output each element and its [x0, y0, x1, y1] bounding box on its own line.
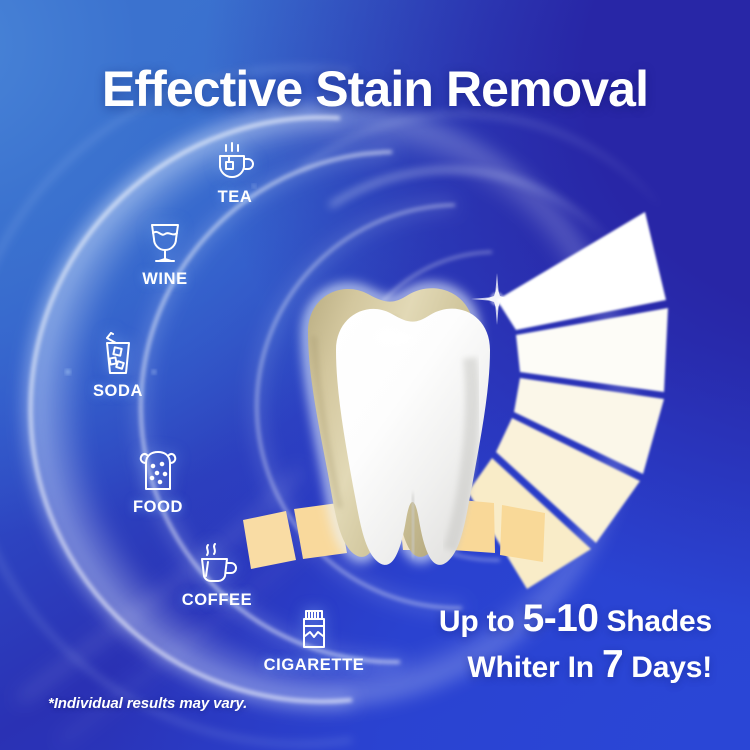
stain-source-coffee[interactable]: COFFEE [163, 542, 271, 610]
coffee-cup-icon [193, 542, 241, 588]
cigarette-pack-icon [293, 607, 335, 653]
stain-source-label: SODA [64, 382, 172, 401]
stain-source-tea[interactable]: TEA [181, 139, 289, 207]
stain-source-cigarette[interactable]: CIGARETTE [255, 607, 373, 675]
stain-source-soda[interactable]: SODA [64, 329, 172, 401]
disclaimer-text: *Individual results may vary. [48, 695, 247, 712]
soda-glass-icon [95, 329, 141, 379]
stain-source-label: CIGARETTE [255, 656, 373, 675]
wine-glass-icon [142, 219, 188, 267]
stain-source-label: FOOD [104, 498, 212, 517]
tooth-illustration [268, 262, 538, 582]
stain-removal-ad: Effective Stain Removal [0, 0, 750, 750]
claim-line-1-prefix: Up to [439, 605, 523, 638]
whitening-claim: Up to 5-10 Shades Whiter In 7 Days! [439, 596, 712, 688]
stain-source-label: WINE [111, 270, 219, 289]
stain-source-label: TEA [181, 188, 289, 207]
stain-source-food[interactable]: FOOD [104, 449, 212, 517]
claim-line-2-prefix: Whiter In [467, 651, 602, 684]
claim-days-value: 7 [602, 643, 623, 686]
claim-line-1: Up to 5-10 Shades [439, 596, 712, 642]
tea-cup-icon [212, 139, 258, 185]
claim-line-2-suffix: Days! [623, 651, 712, 684]
claim-line-1-suffix: Shades [598, 605, 712, 638]
claim-line-2: Whiter In 7 Days! [439, 642, 712, 688]
page-title: Effective Stain Removal [0, 63, 750, 116]
bread-slice-icon [134, 449, 182, 495]
stain-source-wine[interactable]: WINE [111, 219, 219, 289]
claim-shades-value: 5-10 [523, 597, 599, 640]
